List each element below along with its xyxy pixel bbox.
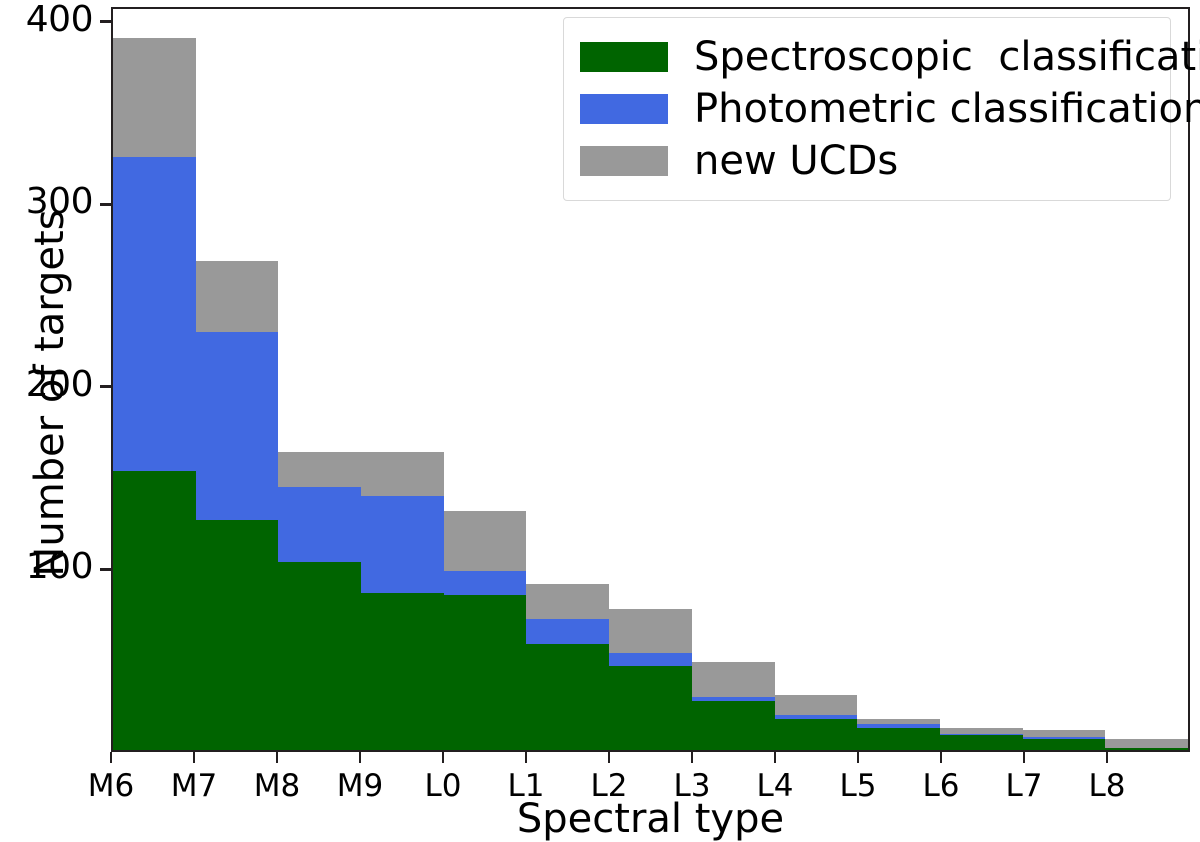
bar-segment-l1-s0 — [526, 644, 609, 750]
x-tick-mark — [359, 752, 362, 763]
bar-m9 — [361, 9, 444, 750]
legend-label: new UCDs — [694, 141, 898, 181]
y-tick-mark — [100, 20, 111, 23]
x-tick-mark — [1106, 752, 1109, 763]
bar-segment-l7-s2 — [1023, 730, 1106, 737]
bar-segment-l3-s2 — [692, 662, 775, 697]
x-tick-mark — [940, 752, 943, 763]
bar-segment-m7-s0 — [196, 520, 279, 750]
x-tick-mark — [691, 752, 694, 763]
bar-segment-l8-s0 — [1105, 748, 1188, 750]
bar-segment-m8-s2 — [278, 452, 361, 487]
y-axis-title: Number of targets — [27, 13, 73, 773]
histogram-figure: 100200300400 M6M7M8M9L0L1L2L3L4L5L6L7L8 … — [0, 0, 1200, 842]
bar-m8 — [278, 9, 361, 750]
bar-segment-l1-s1 — [526, 619, 609, 645]
bar-segment-l0-s0 — [444, 595, 527, 750]
bar-segment-l2-s1 — [609, 653, 692, 666]
legend: Spectroscopic classificationPhotometric … — [563, 17, 1171, 201]
bar-segment-l0-s2 — [444, 511, 527, 571]
x-tick-mark — [525, 752, 528, 763]
legend-swatch-icon — [580, 94, 668, 124]
bar-segment-l7-s0 — [1023, 739, 1106, 750]
bar-segment-m6-s1 — [113, 157, 196, 471]
x-tick-mark — [442, 752, 445, 763]
legend-item-1[interactable]: Photometric classification — [580, 83, 1152, 135]
legend-swatch-icon — [580, 146, 668, 176]
y-tick-mark — [100, 568, 111, 571]
x-axis-title: Spectral type — [111, 796, 1190, 842]
bar-l0 — [444, 9, 527, 750]
bar-segment-l0-s1 — [444, 571, 527, 595]
bar-segment-l4-s2 — [775, 695, 858, 715]
bar-segment-l8-s2 — [1105, 739, 1188, 748]
bar-segment-m8-s1 — [278, 487, 361, 562]
x-tick-mark — [608, 752, 611, 763]
y-tick-mark — [100, 203, 111, 206]
bar-segment-m6-s2 — [113, 38, 196, 157]
x-tick-mark — [774, 752, 777, 763]
bar-m7 — [196, 9, 279, 750]
bar-segment-l5-s0 — [857, 728, 940, 750]
bar-segment-l2-s0 — [609, 666, 692, 750]
legend-label: Photometric classification — [694, 89, 1200, 129]
bar-segment-m7-s2 — [196, 261, 279, 332]
legend-item-0[interactable]: Spectroscopic classification — [580, 31, 1152, 83]
legend-swatch-icon — [580, 42, 668, 72]
bar-segment-m9-s1 — [361, 496, 444, 593]
bar-m6 — [113, 9, 196, 750]
bar-segment-m9-s2 — [361, 452, 444, 496]
legend-item-2[interactable]: new UCDs — [580, 135, 1152, 187]
bar-segment-l4-s0 — [775, 719, 858, 750]
x-tick-mark — [276, 752, 279, 763]
bar-segment-m6-s0 — [113, 471, 196, 750]
legend-label: Spectroscopic classification — [694, 37, 1200, 77]
bar-segment-l6-s0 — [940, 735, 1023, 750]
bar-segment-m9-s0 — [361, 593, 444, 750]
bar-segment-l2-s2 — [609, 609, 692, 653]
bar-segment-m8-s0 — [278, 562, 361, 750]
x-tick-mark — [110, 752, 113, 763]
x-tick-mark — [857, 752, 860, 763]
bar-segment-l1-s2 — [526, 584, 609, 619]
x-tick-mark — [193, 752, 196, 763]
x-tick-mark — [1023, 752, 1026, 763]
bar-segment-l3-s0 — [692, 701, 775, 750]
y-tick-mark — [100, 385, 111, 388]
bar-segment-m7-s1 — [196, 332, 279, 520]
